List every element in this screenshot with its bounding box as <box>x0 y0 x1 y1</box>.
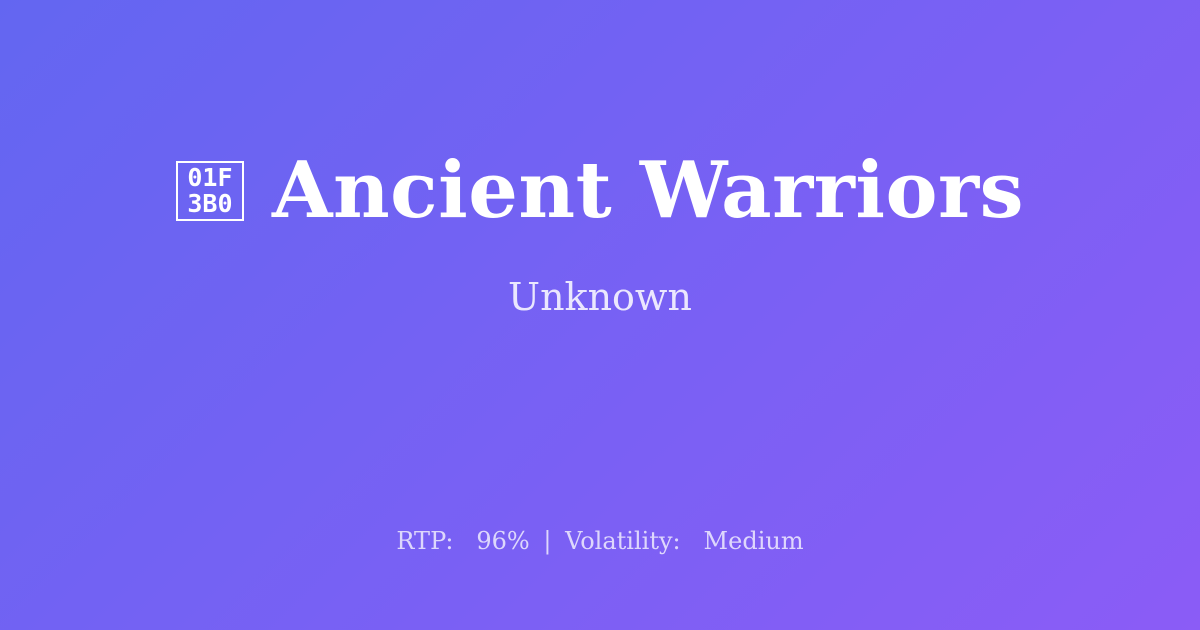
rtp-value: 96% <box>476 527 529 555</box>
meta-separator: | <box>537 527 557 555</box>
tofu-codepoint-line-1: 01F <box>187 165 232 191</box>
slot-machine-emoji-icon: 01F 3B0 <box>176 161 244 221</box>
game-provider-subtitle: Unknown <box>508 275 692 321</box>
rtp-label: RTP: <box>396 527 453 555</box>
og-preview-card: 01F 3B0 Ancient Warriors Unknown RTP: 96… <box>0 0 1200 630</box>
title-row: 01F 3B0 Ancient Warriors <box>60 150 1140 233</box>
volatility-label: Volatility: <box>565 527 681 555</box>
volatility-value: Medium <box>704 527 804 555</box>
hero-section: 01F 3B0 Ancient Warriors Unknown <box>0 0 1200 470</box>
game-meta-footer: RTP: 96% | Volatility: Medium <box>0 526 1200 556</box>
tofu-codepoint-line-2: 3B0 <box>187 191 232 217</box>
page-title: Ancient Warriors <box>272 150 1024 233</box>
